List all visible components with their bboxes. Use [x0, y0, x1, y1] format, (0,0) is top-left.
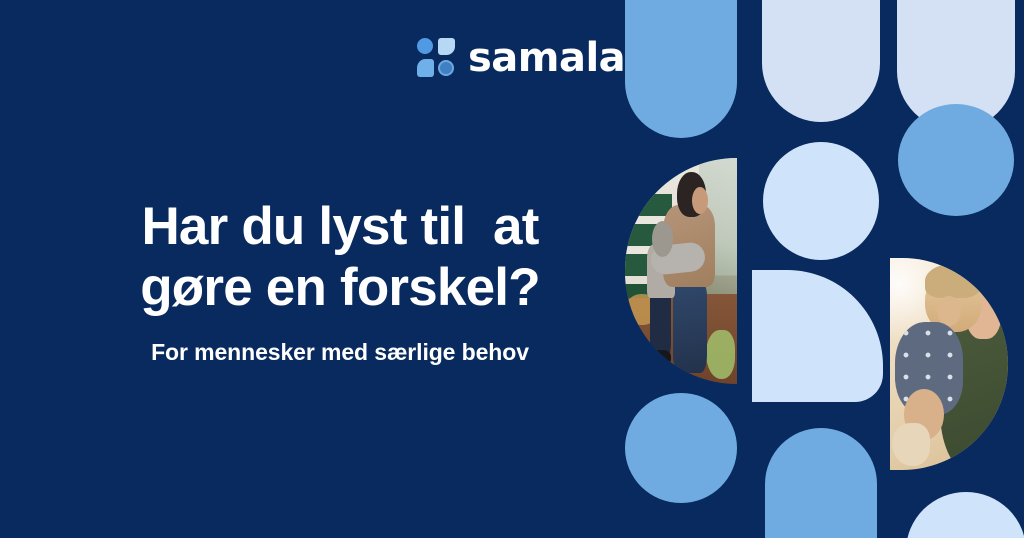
samala-wordmark: samala: [468, 38, 625, 78]
shape-u-lavender-top-right: [897, 0, 1015, 130]
samala-logo-mark-icon: [417, 38, 455, 78]
hero-copy: Har du lyst til at gøre en forskel? For …: [60, 196, 620, 366]
samala-logo[interactable]: samala: [417, 38, 625, 78]
page-title: Har du lyst til at gøre en forskel?: [60, 196, 620, 319]
photo-child-artwork: [890, 258, 1008, 470]
shape-arch-medium-bottom: [765, 428, 877, 538]
logo-rounded-square-top-right-icon: [438, 38, 455, 55]
photo-hug-artwork: [625, 158, 737, 384]
shape-u-lavender-top-mid: [762, 0, 880, 122]
shape-circle-sky-corner: [906, 492, 1024, 538]
shape-circle-sky-mid: [763, 142, 879, 260]
photo-child: [890, 258, 1008, 470]
shape-petal-sky-mid: [752, 270, 883, 402]
shape-circle-medium-right: [898, 104, 1014, 216]
photo-hug: [625, 158, 737, 384]
logo-circle-bottom-right-icon: [438, 60, 454, 76]
shape-circle-medium-bottom: [625, 393, 737, 503]
hero-subtitle: For mennesker med særlige behov: [60, 339, 620, 366]
promo-banner: samala Har du lyst til at gøre en forske…: [0, 0, 1024, 538]
shape-u-medium-top-left: [625, 0, 737, 138]
logo-circle-top-left-icon: [417, 38, 433, 54]
logo-quarter-round-bottom-left-icon: [417, 59, 434, 77]
